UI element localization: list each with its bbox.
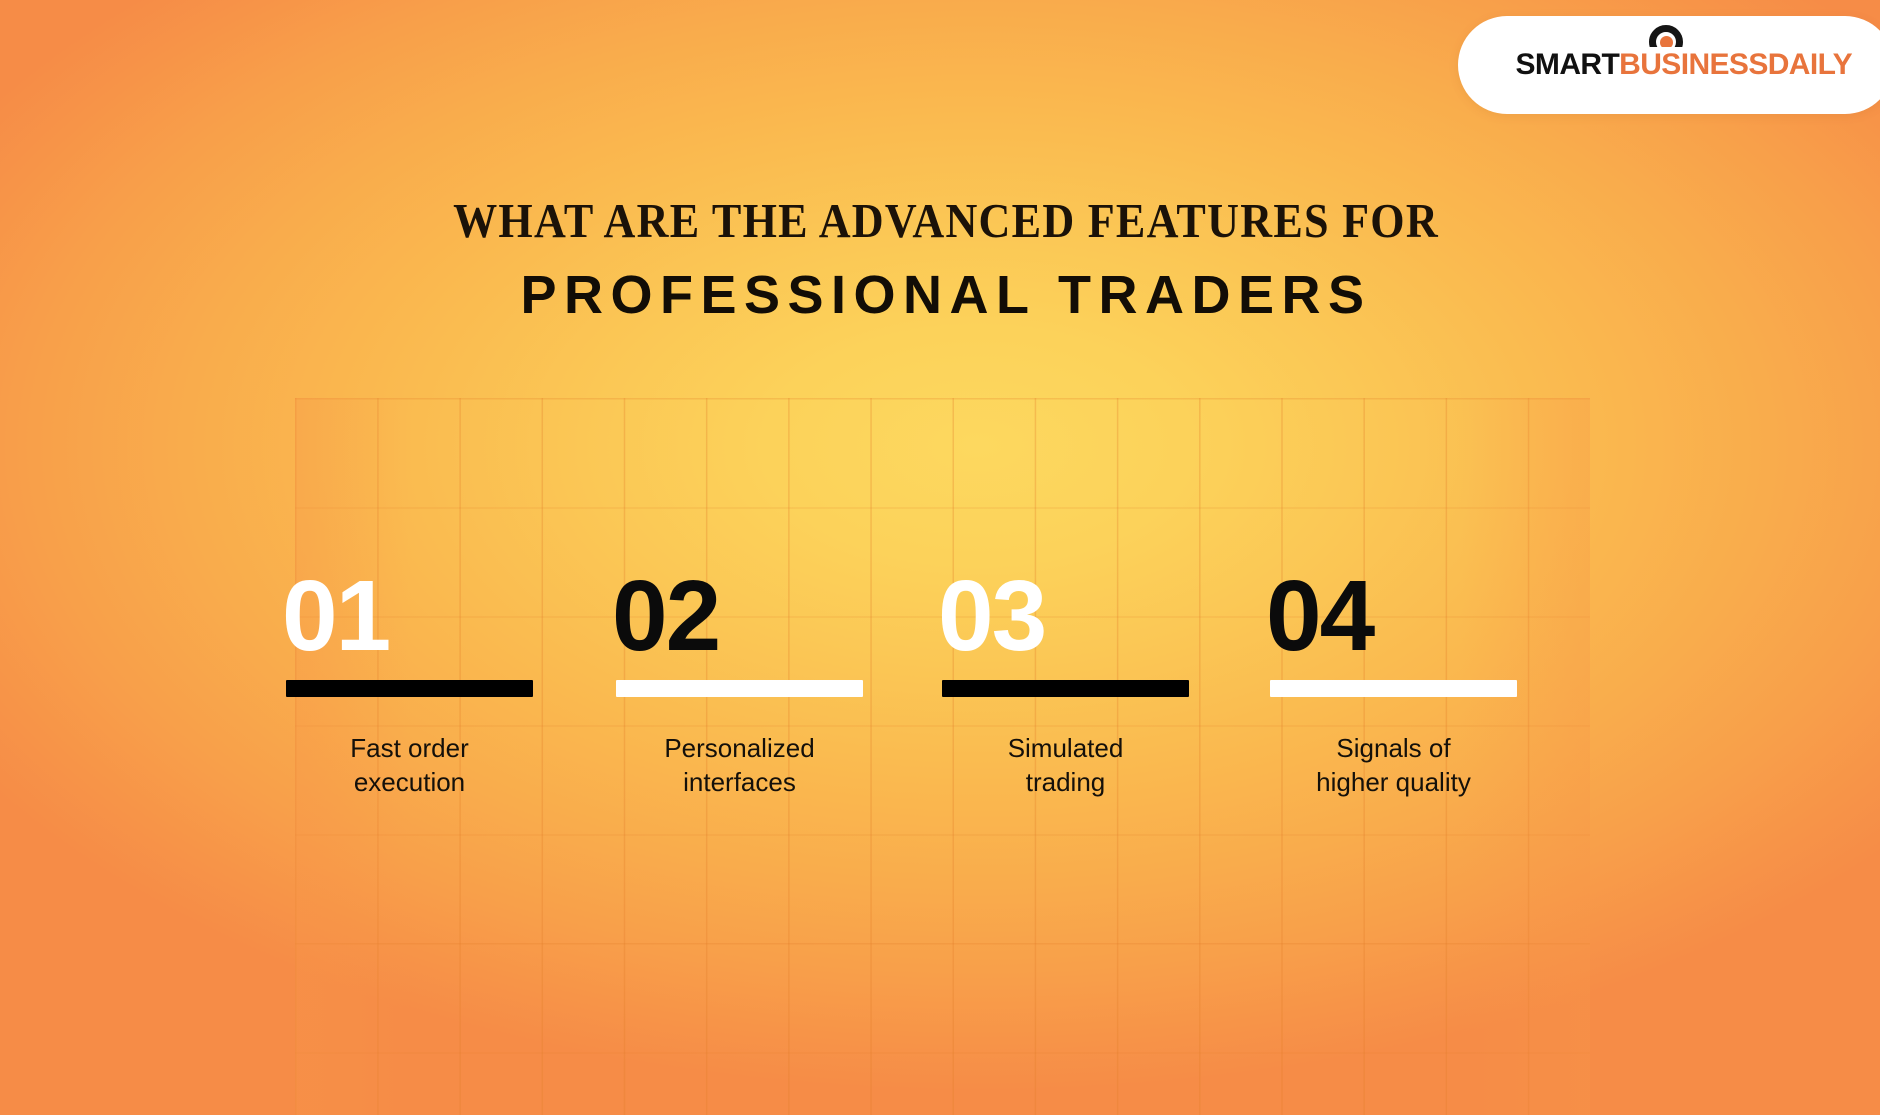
feature-number: 01	[282, 570, 612, 662]
feature-divider-bar	[942, 680, 1189, 697]
feature-label: Simulated trading	[942, 732, 1189, 799]
feature-label: Signals of higher quality	[1270, 732, 1517, 799]
feature-item-02: 02 Personalized interfaces	[616, 570, 942, 799]
title-line-2: PROFESSIONAL TRADERS	[12, 268, 1880, 322]
feature-list: 01 Fast order execution 02 Personalized …	[286, 570, 1596, 799]
feature-label: Fast order execution	[286, 732, 533, 799]
feature-label-line-2: execution	[286, 766, 533, 800]
page-title: WHAT ARE THE ADVANCED FEATURES FOR PROFE…	[0, 196, 1880, 322]
brand-logo-pill[interactable]: SMARTBUSINESSDAILY	[1458, 16, 1880, 114]
feature-number: 04	[1266, 570, 1596, 662]
logo-text-smart: SMART	[1516, 50, 1620, 80]
feature-item-04: 04 Signals of higher quality	[1270, 570, 1596, 799]
feature-label-line-1: Simulated	[942, 732, 1189, 766]
feature-label-line-1: Personalized	[616, 732, 863, 766]
title-line-1: WHAT ARE THE ADVANCED FEATURES FOR	[105, 196, 1786, 245]
feature-label: Personalized interfaces	[616, 732, 863, 799]
feature-label-line-2: higher quality	[1270, 766, 1517, 800]
feature-number: 02	[612, 570, 942, 662]
feature-divider-bar	[1270, 680, 1517, 697]
feature-label-line-1: Fast order	[286, 732, 533, 766]
feature-label-line-2: trading	[942, 766, 1189, 800]
infographic-canvas: SMARTBUSINESSDAILY WHAT ARE THE ADVANCED…	[0, 0, 1880, 1115]
dome-with-dot-icon	[1649, 25, 1683, 47]
feature-label-line-1: Signals of	[1270, 732, 1517, 766]
feature-divider-bar	[286, 680, 533, 697]
feature-item-01: 01 Fast order execution	[286, 570, 612, 799]
feature-number: 03	[938, 570, 1268, 662]
brand-logo: SMARTBUSINESSDAILY	[1516, 50, 1852, 80]
feature-divider-bar	[616, 680, 863, 697]
feature-label-line-2: interfaces	[616, 766, 863, 800]
logo-text-businessdaily: BUSINESSDAILY	[1619, 50, 1852, 80]
feature-item-03: 03 Simulated trading	[942, 570, 1268, 799]
